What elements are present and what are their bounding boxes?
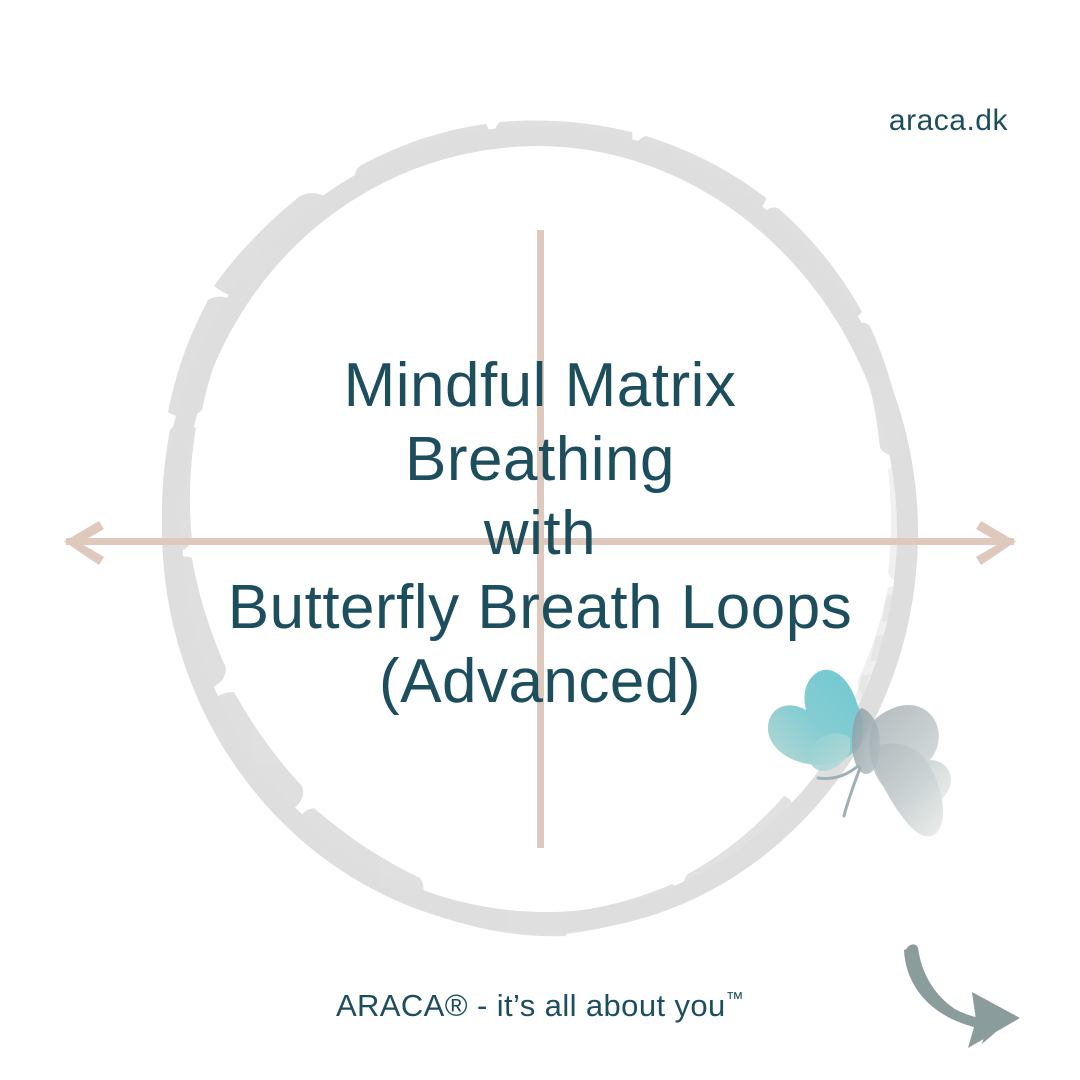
poster-canvas: araca.dk Mindful Matrix Breathing with B… [0,0,1080,1080]
brand-tagline: ARACA® - it’s all about you™ [0,988,1080,1024]
tagline-trademark: ™ [726,989,744,1009]
background-artwork [0,0,1080,1080]
brand-url[interactable]: araca.dk [889,104,1008,138]
tagline-main: ARACA® - it’s all about you [336,988,726,1023]
